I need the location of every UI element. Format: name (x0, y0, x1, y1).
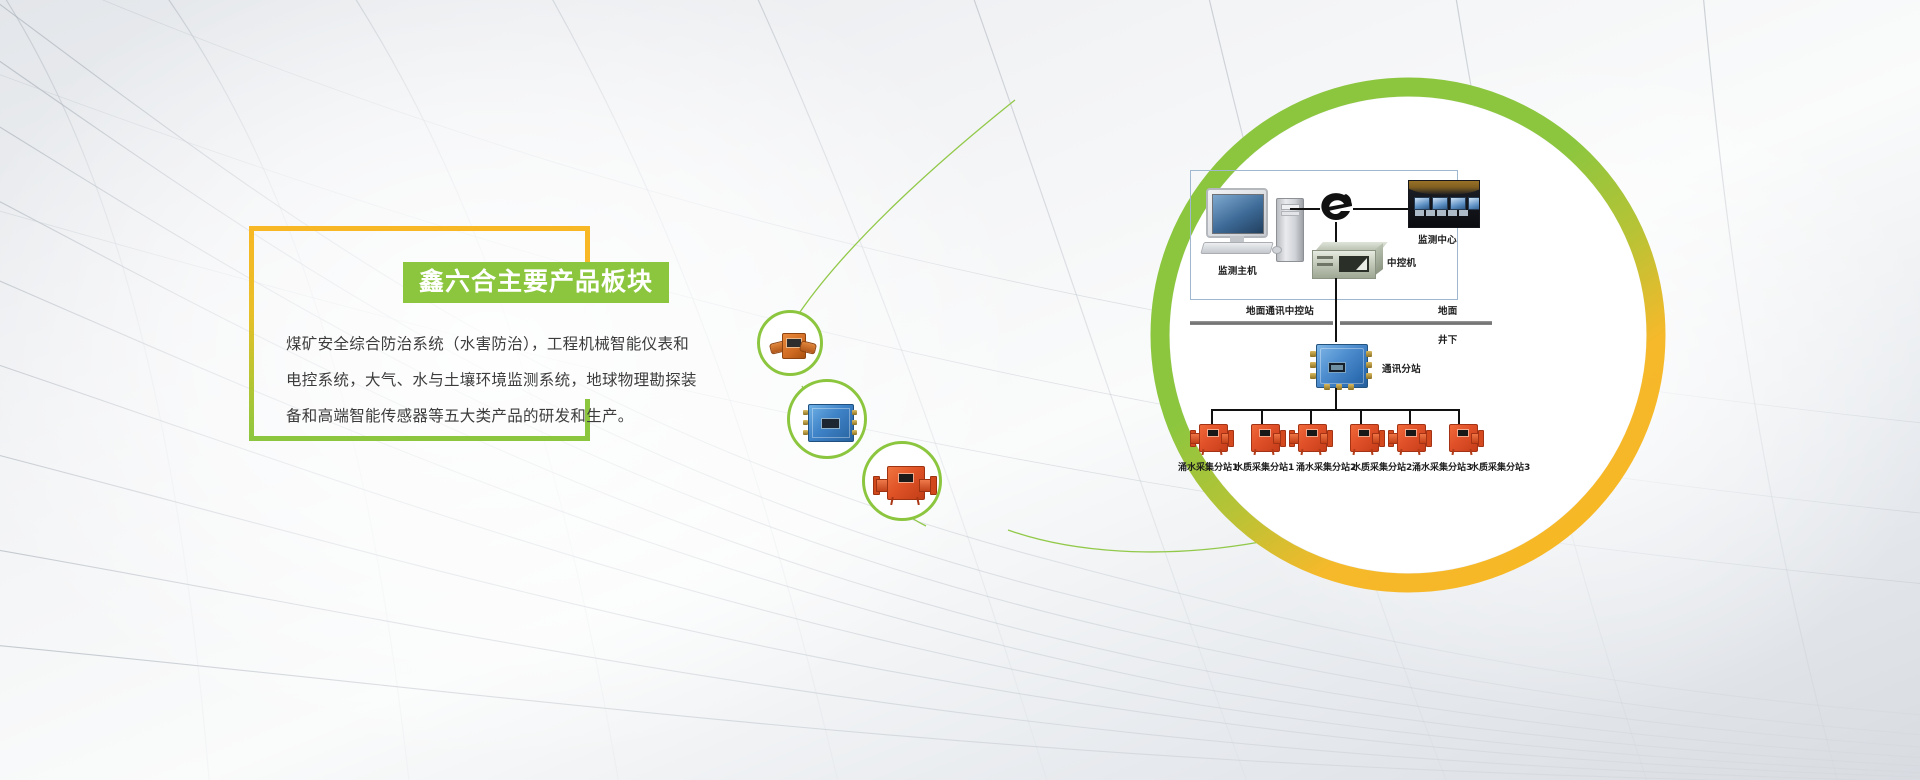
collector-device-3 (1289, 422, 1333, 456)
wire-e-to-center (1353, 208, 1408, 210)
label-collector-5: 涌水采集分站3 (1412, 460, 1472, 473)
label-collector-1: 涌水采集分站1 (1178, 460, 1238, 473)
central-control-server-icon (1312, 242, 1384, 278)
label-ground-control-station: 地面通讯中控站 (1246, 303, 1314, 317)
label-collector-3: 涌水采集分站2 (1296, 460, 1356, 473)
label-underground-zone: 井下 (1438, 332, 1457, 346)
label-collector-6: 水质采集分站3 (1470, 460, 1530, 473)
label-collector-2: 水质采集分站1 (1234, 460, 1294, 473)
product-bubble-blue[interactable] (787, 379, 867, 459)
ground-level-line-left (1190, 321, 1333, 325)
page-title: 鑫六合主要产品板块 (419, 269, 653, 294)
label-surface-zone: 地面 (1438, 303, 1457, 317)
label-monitor-host: 监测主机 (1218, 263, 1257, 277)
label-comm-substation: 通讯分站 (1382, 361, 1421, 375)
mouse-icon (1272, 246, 1282, 254)
banner-stage: 鑫六合主要产品板块 煤矿安全综合防治系统（水害防治），工程机械智能仪表和 电控系… (0, 0, 1920, 780)
collector-device-1 (1190, 422, 1234, 456)
wire-collector-bus (1211, 409, 1459, 411)
label-monitor-center: 监测中心 (1418, 232, 1457, 246)
monitor-host-icon (1202, 180, 1288, 254)
frame-edge-left (249, 226, 254, 441)
frame-edge-bottom (249, 436, 590, 441)
ground-level-line-right (1340, 321, 1492, 325)
wire-e-to-server (1335, 222, 1337, 244)
wire-host-to-e (1290, 208, 1320, 210)
frame-edge-right-top (585, 226, 590, 262)
keyboard-icon (1200, 242, 1273, 254)
product-bubble-orange[interactable] (757, 310, 823, 376)
intro-line-3: 备和高端智能传感器等五大类产品的研发和生产。 (286, 398, 718, 434)
blue-communication-substation-icon (803, 404, 857, 440)
intro-paragraph: 煤矿安全综合防治系统（水害防治），工程机械智能仪表和 电控系统，大气、水与土壤环… (286, 326, 718, 434)
wire-substation-to-bus (1335, 388, 1337, 410)
section-title-banner: 鑫六合主要产品板块 (403, 262, 669, 303)
monitoring-center-photo (1408, 180, 1480, 228)
orange-explosion-proof-device-icon (770, 333, 816, 357)
collector-device-6 (1440, 422, 1484, 456)
product-bubble-red[interactable] (862, 441, 942, 521)
collector-device-5 (1388, 422, 1432, 456)
product-intro-panel: 鑫六合主要产品板块 煤矿安全综合防治系统（水害防治），工程机械智能仪表和 电控系… (249, 226, 589, 441)
label-central-control: 中控机 (1387, 255, 1416, 269)
communication-substation-icon (1310, 342, 1372, 390)
water-hazard-monitoring-diagram: 监测主机 监测中心 中控机 地面通讯中控站 地面 (1190, 160, 1630, 490)
label-collector-4: 水质采集分站2 (1352, 460, 1412, 473)
intro-line-1: 煤矿安全综合防治系统（水害防治），工程机械智能仪表和 (286, 326, 718, 362)
intro-line-2: 电控系统，大气、水与土壤环境监测系统，地球物理勘探装 (286, 362, 718, 398)
monitor-icon (1206, 188, 1268, 238)
frame-edge-top (249, 226, 590, 231)
wire-server-to-substation (1335, 278, 1337, 342)
collector-device-4 (1341, 422, 1385, 456)
collector-device-2 (1242, 422, 1286, 456)
red-water-collection-station-icon (873, 466, 937, 506)
